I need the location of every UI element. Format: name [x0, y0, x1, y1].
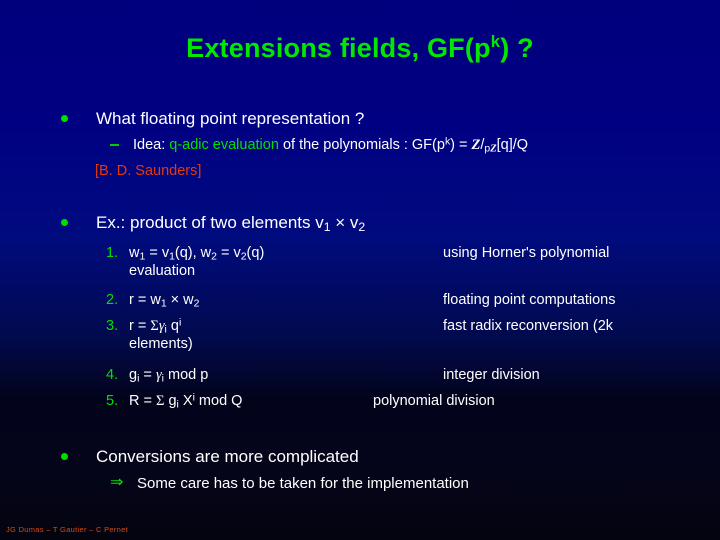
slide-footer-authors: JG Dumas – T Gautier – C Pernet: [6, 525, 128, 534]
item3-q-exp: i: [179, 318, 181, 329]
bullet-dot-icon: [61, 219, 68, 226]
item1-eqv2: = v: [217, 245, 241, 261]
idea-mid: of the polynomials : GF(p: [279, 137, 445, 153]
bullet-2-mid: × v: [331, 213, 359, 232]
slide-title-exponent: k: [491, 32, 501, 51]
item5-modq: mod Q: [195, 393, 243, 409]
list-item-5-body: R = Σ gi Xi mod Q polynomial division: [129, 392, 706, 410]
item4-eq: =: [139, 367, 156, 383]
dash-marker-icon: [110, 144, 119, 146]
bullet-3: Conversions are more complicated: [58, 446, 698, 467]
bullet-2-text: Ex.: product of two elements v1 × v2: [96, 212, 698, 233]
list-number-4: 4.: [106, 366, 118, 384]
slide-title: Extensions fields, GF(pk) ?: [0, 33, 720, 64]
list-item-2: 2. r = w1 × w2 floating point computatio…: [106, 291, 706, 309]
list-number-3: 3.: [106, 317, 118, 335]
idea-lead: Idea:: [133, 137, 169, 153]
formula-tail-2: [q]/Q: [497, 137, 528, 153]
item5-g: g: [164, 393, 176, 409]
bullet-1: What floating point representation ?: [58, 108, 698, 129]
idea-formula-tail: ) =: [450, 137, 471, 153]
item4-formula: gi = γi mod p: [129, 367, 208, 383]
sigma-symbol: Σ: [150, 318, 158, 334]
item3-comment: fast radix reconversion (2k: [443, 317, 613, 335]
item5-X: X: [179, 393, 193, 409]
reference-saunders: [B. D. Saunders]: [95, 163, 201, 179]
list-item-2-body: r = w1 × w2 floating point computations: [129, 291, 706, 309]
slide-title-main: Extensions fields, GF(p: [186, 33, 491, 63]
item3-q: q: [167, 318, 179, 334]
list-number-2: 2.: [106, 291, 118, 309]
item3-formula: r = Σγi qi: [129, 318, 181, 334]
item2-comment: floating point computations: [443, 291, 616, 309]
bullet-dot-icon: [61, 453, 68, 460]
v2-subscript: 2: [358, 220, 365, 234]
item1-w: w: [129, 245, 139, 261]
item1-formula: w1 = v1(q), w2 = v2(q): [129, 245, 264, 261]
list-item-1-body: w1 = v1(q), w2 = v2(q) using Horner's po…: [129, 244, 706, 280]
item2-formula: r = w1 × w2: [129, 292, 199, 308]
item1-qend: (q): [247, 245, 265, 261]
item5-R: R =: [129, 393, 156, 409]
item2-sub2: 2: [194, 299, 200, 310]
list-number-1: 1.: [106, 244, 118, 262]
item4-modp: mod p: [164, 367, 208, 383]
item2-r: r = w: [129, 292, 161, 308]
item1-qw: (q), w: [175, 245, 211, 261]
item1-continuation: evaluation: [129, 262, 706, 280]
item1-comment: using Horner's polynomial: [443, 244, 609, 262]
v1-subscript: 1: [324, 220, 331, 234]
bullet-1-text: What floating point representation ?: [96, 108, 698, 129]
item4-g: g: [129, 367, 137, 383]
item3-continuation: elements): [129, 335, 706, 353]
item4-comment: integer division: [443, 366, 540, 384]
slide-title-tail: ) ?: [500, 33, 534, 63]
list-item-1: 1. w1 = v1(q), w2 = v2(q) using Horner's…: [106, 244, 706, 280]
list-item-3: 3. r = Σγi qi fast radix reconversion (2…: [106, 317, 706, 353]
bullet-3-sub: ⇒ Some care has to be taken for the impl…: [110, 474, 710, 493]
item2-times: × w: [167, 292, 194, 308]
list-item-5: 5. R = Σ gi Xi mod Q polynomial division: [106, 392, 706, 410]
item5-formula: R = Σ gi Xi mod Q: [129, 393, 242, 409]
slide-canvas: Extensions fields, GF(pk) ? What floatin…: [0, 0, 720, 540]
item1-eqv: = v: [145, 245, 169, 261]
item3-r: r =: [129, 318, 150, 334]
item5-comment: polynomial division: [373, 392, 495, 410]
bullet-2: Ex.: product of two elements v1 × v2: [58, 212, 698, 233]
list-item-4-body: gi = γi mod p integer division: [129, 366, 706, 384]
bullet-1-sub: Idea: q-adic evaluation of the polynomia…: [110, 136, 710, 155]
double-arrow-icon: ⇒: [110, 473, 123, 492]
bullet-3-text: Conversions are more complicated: [96, 446, 698, 467]
bullet-1-sub-text: Idea: q-adic evaluation of the polynomia…: [133, 136, 710, 155]
q-adic-highlight: q-adic evaluation: [169, 137, 279, 153]
list-item-4: 4. gi = γi mod p integer division: [106, 366, 706, 384]
bullet-2-lead: Ex.: product of two elements v: [96, 213, 324, 232]
bullet-dot-icon: [61, 115, 68, 122]
bullet-3-sub-text: Some care has to be taken for the implem…: [137, 474, 710, 493]
list-item-3-body: r = Σγi qi fast radix reconversion (2k e…: [129, 317, 706, 353]
list-number-5: 5.: [106, 392, 118, 410]
